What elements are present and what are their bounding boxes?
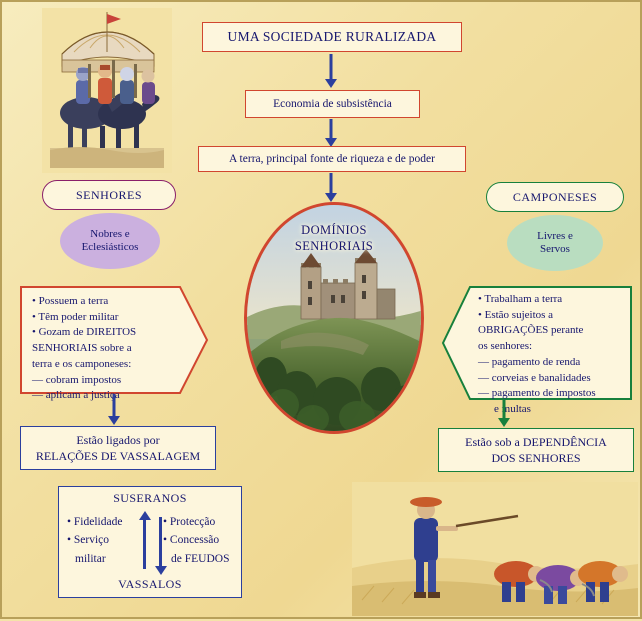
economia-text: Economia de subsistência [273,98,392,110]
dominios-label: DOMÍNIOS SENHORIAIS [247,223,421,254]
camponeses-item-3: os senhores: [478,339,624,354]
camponeses-item-2: OBRIGAÇÕES perante [478,323,624,338]
senhores-attributes-box: • Possuem a terra • Têm poder militar • … [20,286,208,394]
vassal-left-item-1: • Serviço [67,531,145,549]
senhores-pill: SENHORES [42,180,176,210]
dependencia-line2: DOS SENHORES [465,450,607,466]
camponeses-item-5: — corveias e banalidades [478,371,624,386]
camponeses-pill: CAMPONESES [486,182,624,212]
arrow-camponeses-to-dependencia [497,400,511,428]
terra-box: A terra, principal fonte de riqueza e de… [198,146,466,172]
vassal-right-item-2: de FEUDOS [163,550,241,568]
arrow-down-suserano-head [155,566,167,575]
dependencia-line1: Estão sob a DEPENDÊNCIA [465,434,607,450]
camponeses-item-6: — pagamento de impostos [478,386,624,401]
senhores-item-1: • Têm poder militar [32,310,198,325]
arrow-title-to-economia [324,54,338,88]
camponeses-item-4: — pagamento de renda [478,355,624,370]
knights-image [42,8,172,173]
dominios-line1: DOMÍNIOS [247,223,421,239]
senhores-item-3: SENHORIAIS sobre a [32,341,198,356]
camponeses-attributes-box: • Trabalham a terra • Estão sujeitos a O… [442,286,632,400]
senhores-list: • Possuem a terra • Têm poder militar • … [20,286,208,394]
arrow-senhores-to-vassalagem [107,394,121,426]
terra-text: A terra, principal fonte de riqueza e de… [229,153,435,165]
vassal-right-item-1: • Concessão [163,531,241,549]
vassal-right-items: • Protecção • Concessão de FEUDOS [163,513,241,568]
dominios-senhoriais-node: DOMÍNIOS SENHORIAIS [244,202,424,434]
vassalagem-box: Estão ligados por RELAÇÕES DE VASSALAGEM [20,426,216,470]
senhores-item-2: • Gozam de DIREITOS [32,325,198,340]
camponeses-label: CAMPONESES [513,190,597,205]
vassal-left-item-0: • Fidelidade [67,513,145,531]
vassalagem-line1: Estão ligados por [36,432,200,448]
senhores-item-0: • Possuem a terra [32,294,198,309]
vassal-right-item-0: • Protecção [163,513,241,531]
vassal-left-items: • Fidelidade • Serviço militar [67,513,145,568]
vassalagem-line2: RELAÇÕES DE VASSALAGEM [36,448,200,464]
suseranos-vassalos-box: SUSERANOS • Fidelidade • Serviço militar… [58,486,242,598]
dominios-line2: SENHORIAIS [247,239,421,255]
senhores-label: SENHORES [76,188,142,203]
arrow-up-vassal [143,519,146,569]
title-text: UMA SOCIEDADE RURALIZADA [228,29,437,45]
peasants-illustration [352,482,638,616]
camponeses-ellipse-line1: Livres e [537,230,573,243]
camponeses-item-0: • Trabalham a terra [478,292,624,307]
arrow-down-suserano [159,517,162,567]
senhores-item-4: terra e os camponeses: [32,357,198,372]
senhores-ellipse-line2: Eclesiásticos [82,241,139,254]
arrow-economia-to-terra [324,119,338,147]
arrow-terra-to-dominios [324,173,338,203]
senhores-item-5: — cobram impostos [32,373,198,388]
knights-illustration [42,8,172,173]
dependencia-box: Estão sob a DEPENDÊNCIA DOS SENHORES [438,428,634,472]
suseranos-label: SUSERANOS [59,491,241,506]
senhores-ellipse: Nobres e Eclesiásticos [60,213,160,269]
camponeses-ellipse: Livres e Servos [507,215,603,271]
peasants-image [352,482,638,616]
camponeses-list: • Trabalham a terra • Estão sujeitos a O… [442,286,632,400]
diagram-canvas: UMA SOCIEDADE RURALIZADA Economia de sub… [0,0,642,619]
camponeses-item-1: • Estão sujeitos a [478,308,624,323]
camponeses-ellipse-line2: Servos [537,243,573,256]
economia-box: Economia de subsistência [245,90,420,118]
vassalos-label: VASSALOS [59,577,241,592]
vassal-left-item-2: militar [67,550,145,568]
senhores-ellipse-line1: Nobres e [82,228,139,241]
title-box: UMA SOCIEDADE RURALIZADA [202,22,462,52]
arrow-up-vassal-head [139,511,151,520]
